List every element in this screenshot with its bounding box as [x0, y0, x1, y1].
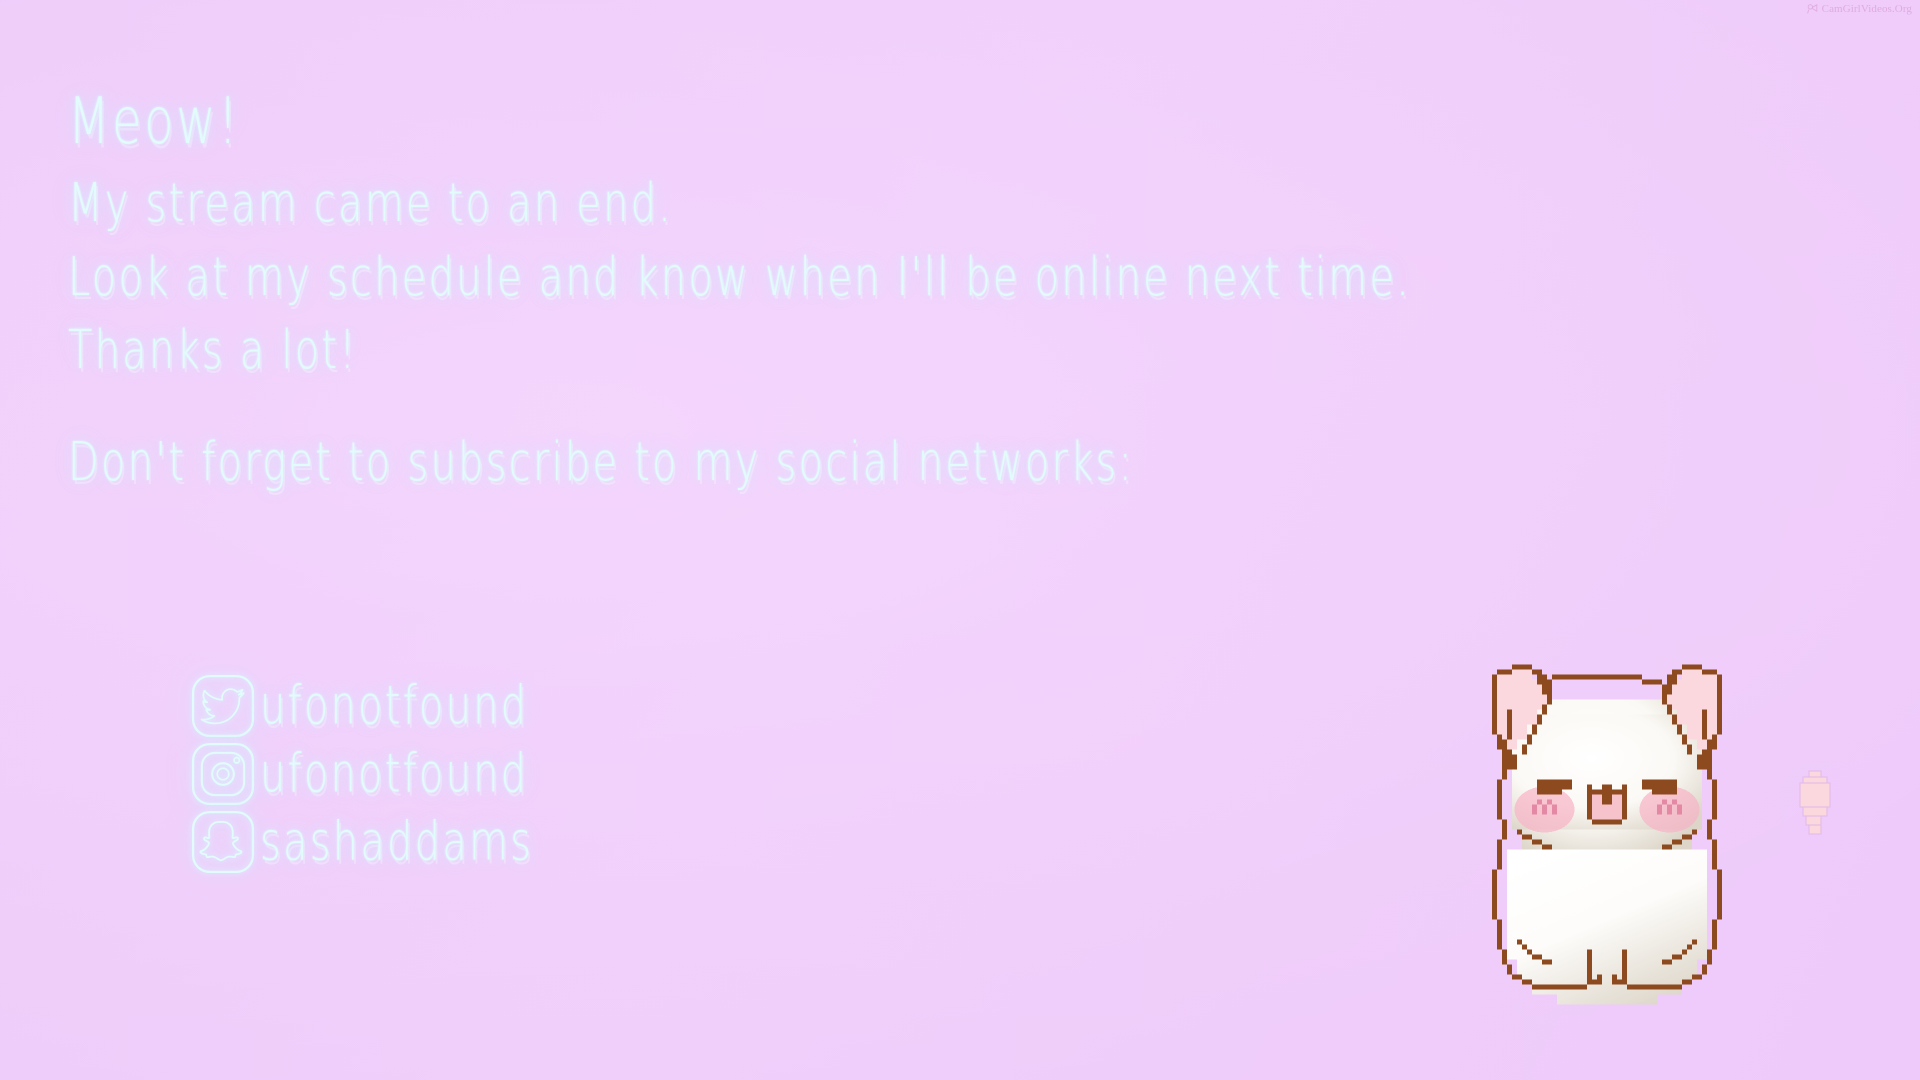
pixel-cat-mascot — [1487, 648, 1727, 1016]
snapchat-icon[interactable] — [190, 809, 256, 875]
message-line-1: My stream came to an end. — [68, 181, 1868, 227]
pixel-cat-svg — [1487, 648, 1727, 1016]
social-handle-twitter[interactable]: ufonotfound — [260, 679, 528, 733]
social-handle-instagram[interactable]: ufonotfound — [260, 747, 528, 801]
message-heading: Meow! — [68, 95, 1868, 150]
cat-tail-pixel — [1794, 768, 1836, 840]
watermark-text: CamGirlVideos.Org — [1822, 3, 1912, 15]
twitter-icon[interactable] — [190, 673, 256, 739]
message-line-2: Look at my schedule and know when I'll b… — [68, 255, 1868, 301]
cat-tail-svg — [1794, 768, 1836, 840]
camera-logo-icon — [1806, 2, 1819, 15]
watermark: CamGirlVideos.Org — [1806, 2, 1912, 15]
social-row-snapchat[interactable]: sashaddams — [190, 808, 533, 876]
social-handle-snapchat[interactable]: sashaddams — [260, 815, 533, 869]
social-row-instagram[interactable]: ufonotfound — [190, 740, 533, 808]
message-line-3: Thanks a lot! — [68, 328, 1868, 374]
message-block: Meow! My stream came to an end. Look at … — [68, 95, 1868, 509]
social-row-twitter[interactable]: ufonotfound — [190, 672, 533, 740]
social-prompt: Don't forget to subscribe to my social n… — [68, 440, 1868, 486]
social-links: ufonotfound ufonotfound sashaddams — [190, 672, 533, 876]
instagram-icon[interactable] — [190, 741, 256, 807]
